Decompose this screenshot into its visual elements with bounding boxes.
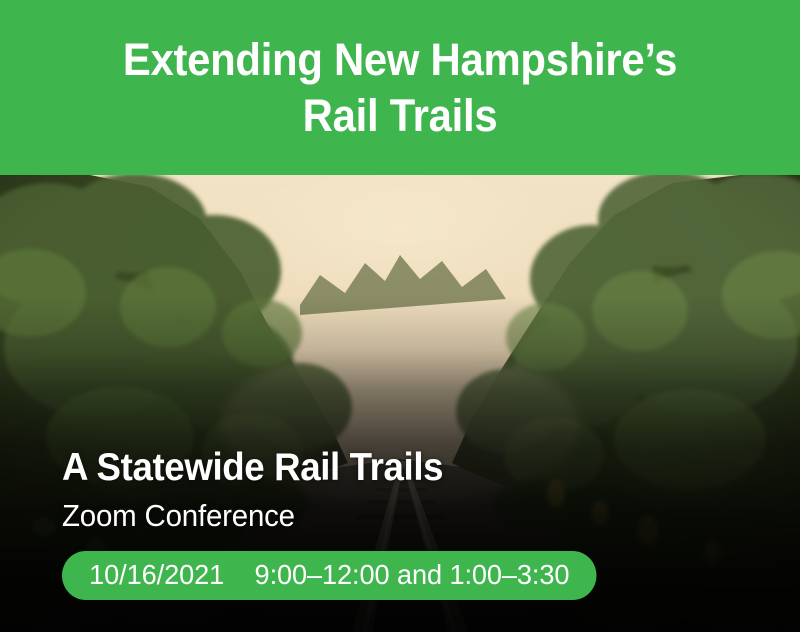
event-title: A Statewide Rail Trails [62,448,720,487]
page-title: Extending New Hampshire’s Rail Trails [65,32,735,143]
event-date: 10/16/2021 [89,559,224,590]
datetime-badge: 10/16/2021 9:00–12:00 and 1:00–3:30 [62,551,597,600]
event-poster: Extending New Hampshire’s Rail Trails [0,0,800,632]
header-band: Extending New Hampshire’s Rail Trails [0,0,800,175]
event-subtitle: Zoom Conference [62,500,727,531]
event-times: 9:00–12:00 and 1:00–3:30 [255,559,570,590]
event-details-block: A Statewide Rail Trails Zoom Conference … [62,448,762,600]
